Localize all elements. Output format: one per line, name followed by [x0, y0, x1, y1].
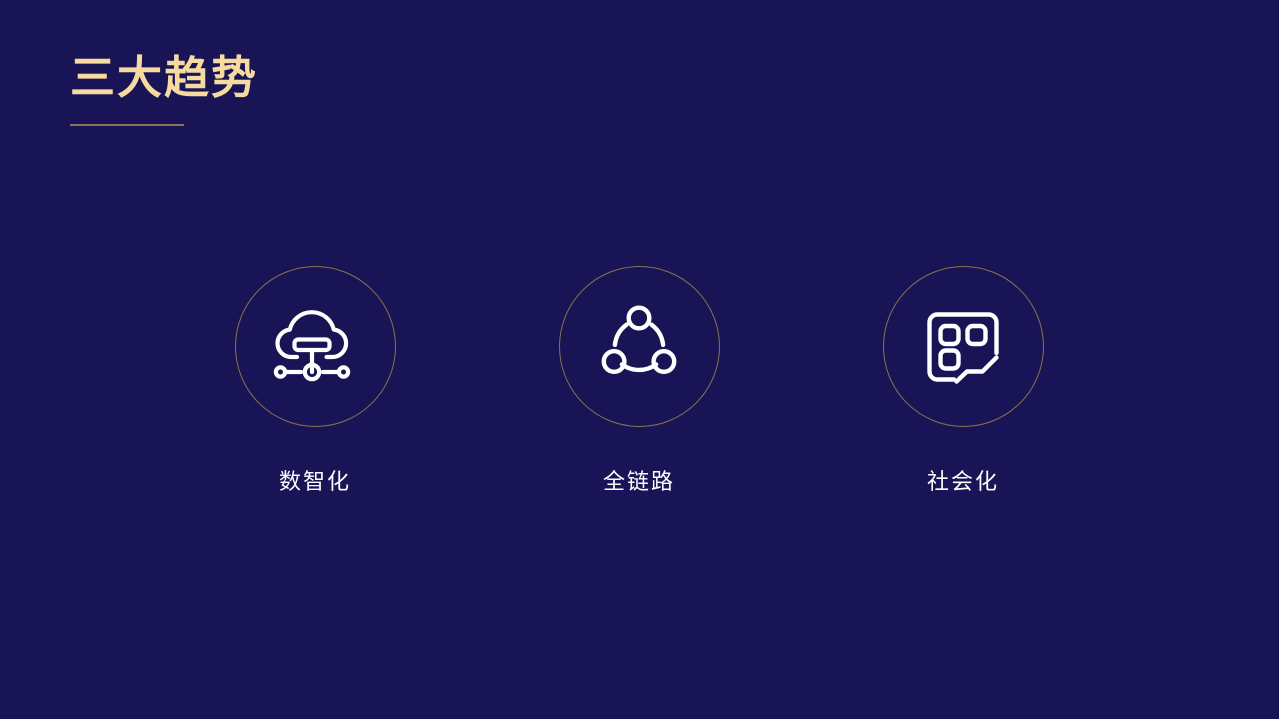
icon-circle-2[interactable] — [559, 266, 720, 427]
trend-label-1: 数智化 — [279, 467, 351, 497]
page-title: 三大趋势 — [70, 50, 590, 106]
title-divider — [70, 124, 184, 126]
title-block: 三大趋势 — [70, 50, 590, 126]
trend-card-1[interactable]: 数智化 — [153, 266, 477, 497]
trends-row: 数智化 全链路 — [153, 266, 1125, 497]
trend-label-2: 全链路 — [603, 467, 675, 497]
trend-card-3[interactable]: 社会化 — [801, 266, 1125, 497]
speech-bubble-dashboard-icon — [918, 302, 1008, 392]
share-nodes-icon — [594, 302, 684, 392]
icon-circle-1[interactable] — [235, 266, 396, 427]
trend-card-2[interactable]: 全链路 — [477, 266, 801, 497]
icon-circle-3[interactable] — [883, 266, 1044, 427]
cloud-network-icon — [269, 301, 361, 393]
trend-label-3: 社会化 — [927, 467, 999, 497]
slide-canvas: 三大趋势 — [0, 0, 1279, 719]
